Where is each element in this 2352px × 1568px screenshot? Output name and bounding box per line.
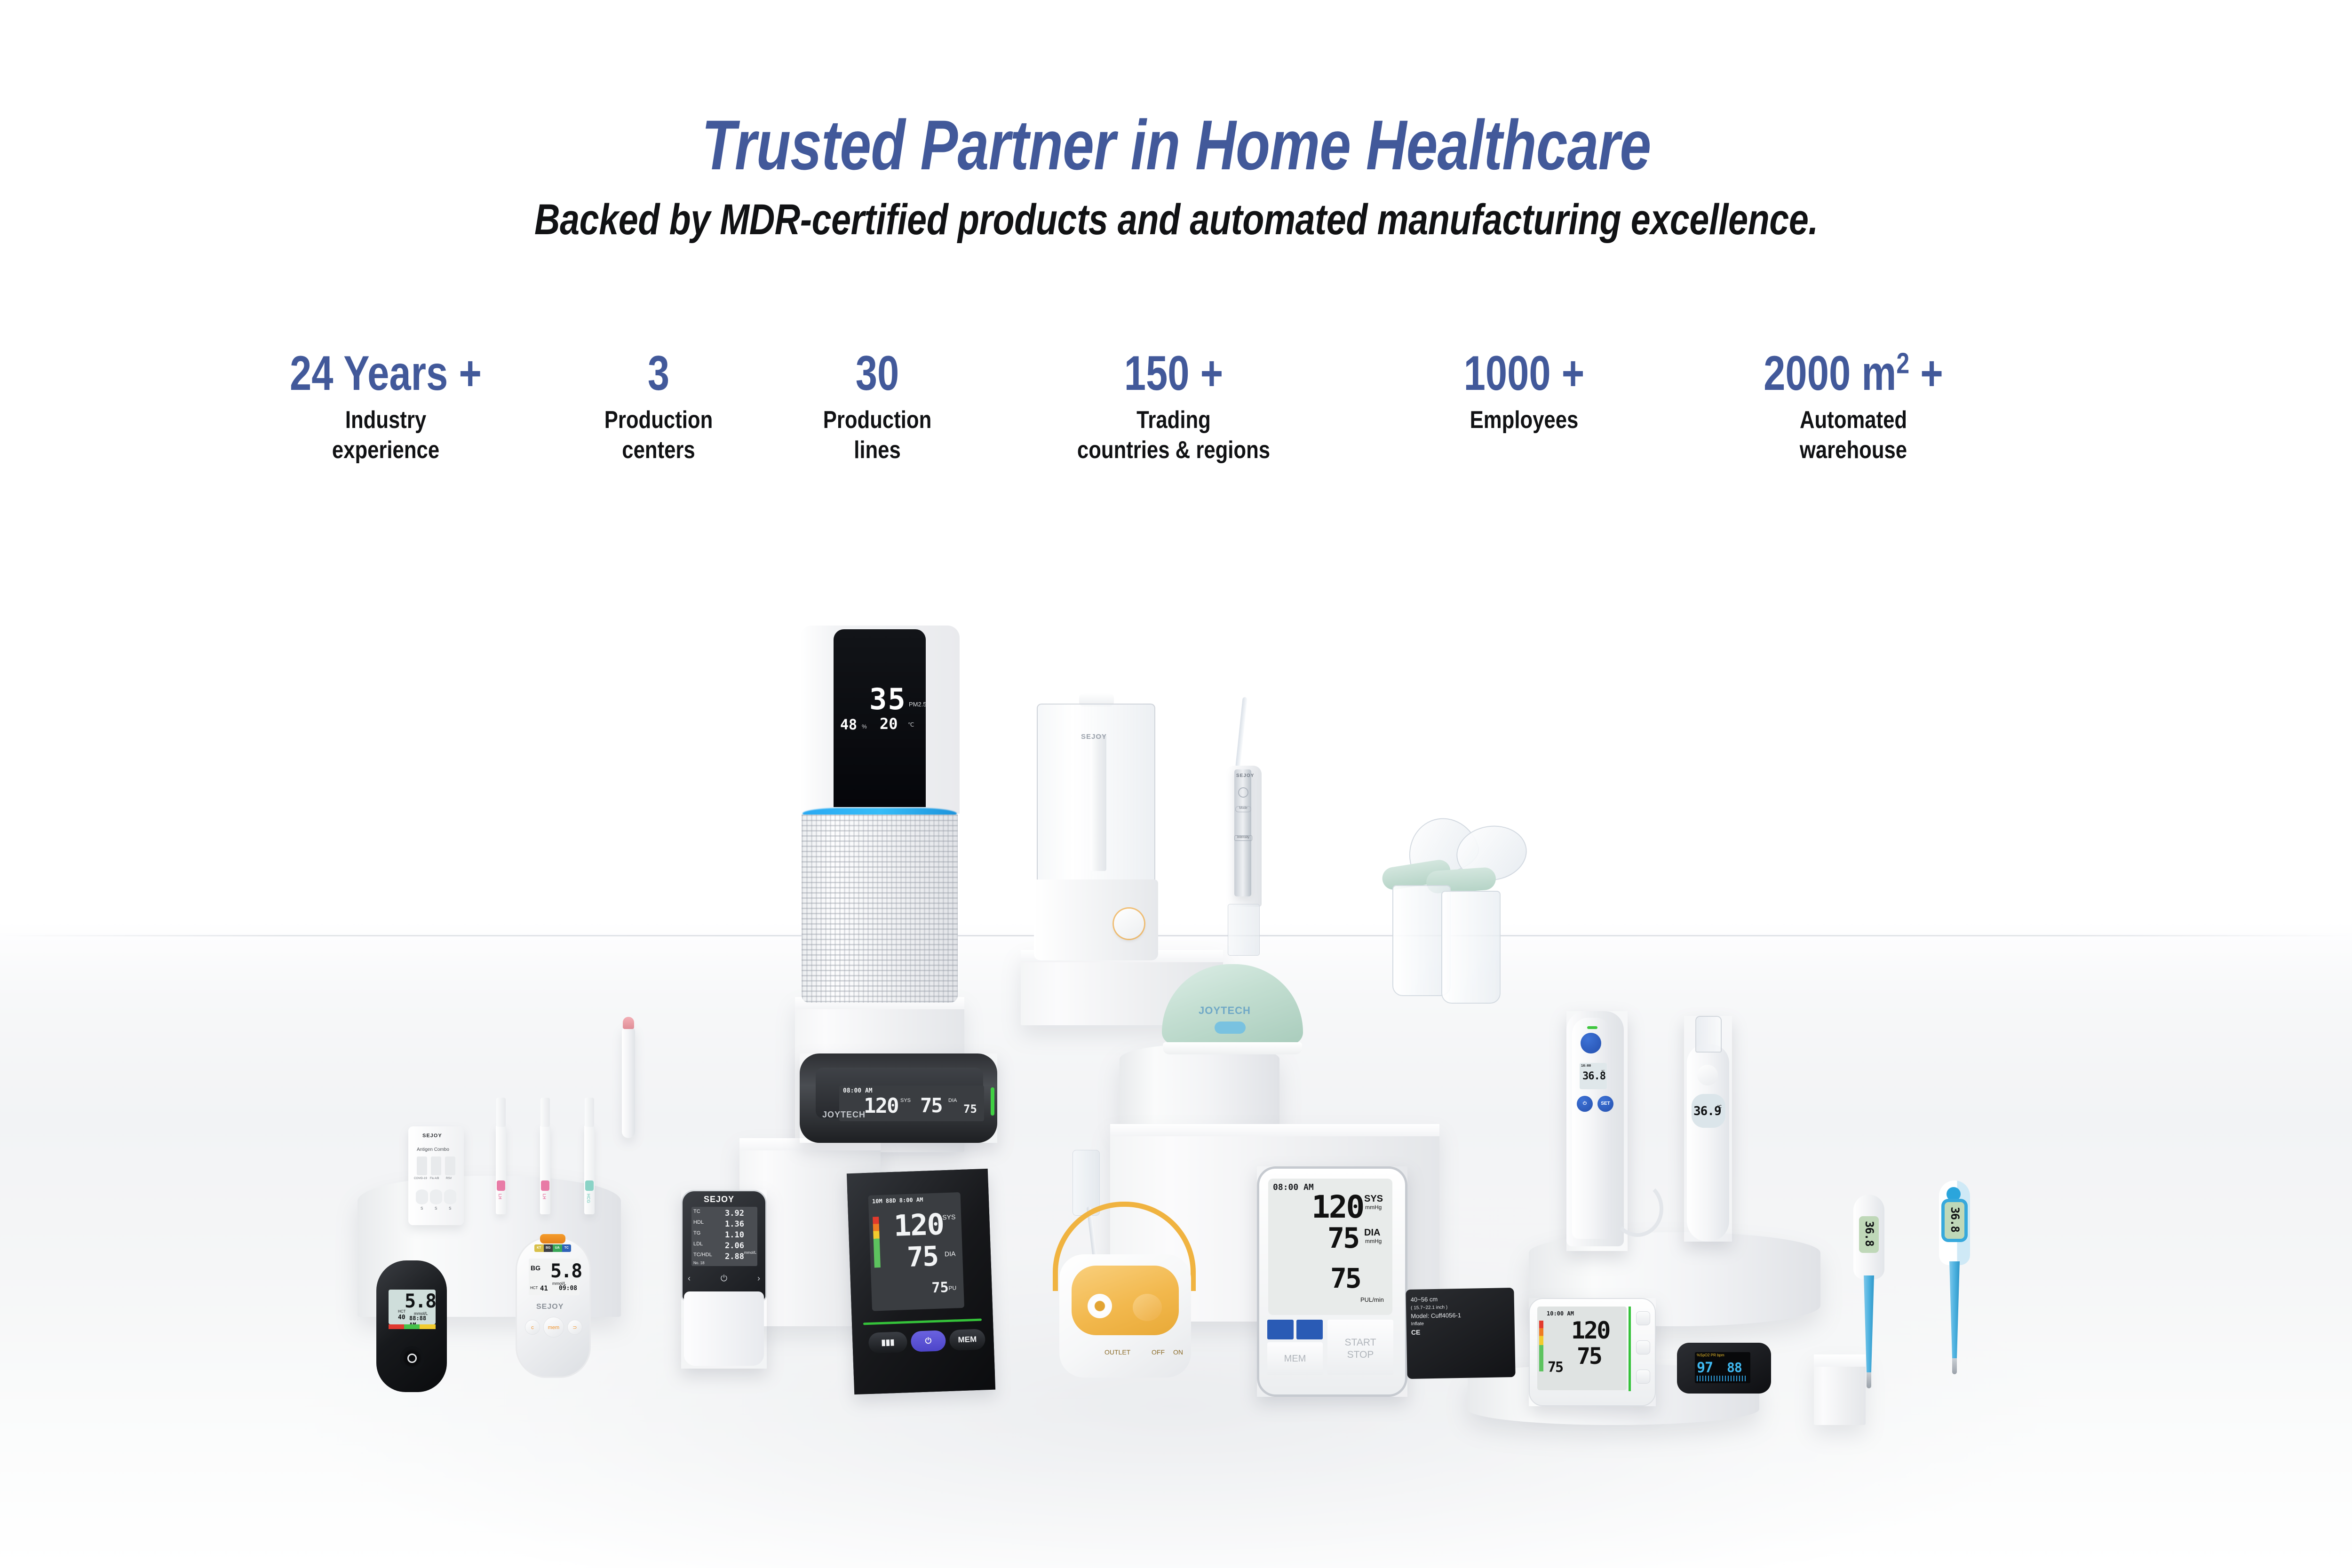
bp-sys-label: SYS (1364, 1194, 1383, 1204)
wrist2-risk-indicator (1539, 1321, 1543, 1371)
pm25-value: 35 (869, 682, 906, 716)
nebulizer-off-label: OFF (1152, 1348, 1165, 1356)
pump-brand: JOYTECH (1199, 1005, 1251, 1017)
bp-dia-value: 75 (1327, 1222, 1359, 1255)
oximeter-header: %SpO2 PR bpm (1697, 1353, 1724, 1357)
hct-label: HCT (398, 1309, 405, 1314)
wrist2-display: 10:00 AM 120 75 75 (1537, 1307, 1627, 1390)
bp-dia-value: 75 (906, 1240, 938, 1273)
antigen-test-name: COVID-19 (414, 1177, 427, 1180)
bp-datetime: 10M 88D 8:00 AM (872, 1196, 923, 1205)
lipid-row-value: 1.10 (725, 1230, 744, 1240)
antigen-title: Antigen Combo (417, 1147, 449, 1152)
wrist2-power-button[interactable] (1636, 1340, 1650, 1354)
bp-sys-value: 120 (1311, 1189, 1363, 1225)
product-wrist-bp-white: 10:00 AM 120 75 75 (1529, 1298, 1656, 1406)
wrist-bp-time: 08:00 AM (843, 1087, 873, 1094)
ear-time: 16:00 (1581, 1064, 1591, 1068)
oximeter-pr-value: 88 (1727, 1360, 1742, 1375)
product-ear-thermometer: 16:00 36.8 ℃ ⏻ SET (1566, 1011, 1628, 1251)
lipid-row-label: TC/HDL (693, 1252, 712, 1258)
pm25-label: PM2.5 (909, 701, 927, 708)
bp-pulse-value: 75 (931, 1279, 949, 1296)
purifier-grille (802, 815, 958, 1003)
bp-start-stop-button[interactable]: STARTSTOP (1327, 1320, 1393, 1375)
glucose-tab-kt: KT (534, 1244, 544, 1252)
wrist-bp-indicator-led (991, 1087, 994, 1116)
stick2-temp-value: 36.8 (1948, 1207, 1962, 1232)
ir-probe-cap (1695, 1016, 1722, 1053)
bp-time: 08:00 AM (1273, 1182, 1314, 1192)
wrist2-dia: 75 (1577, 1343, 1601, 1370)
irrigator-brand: SEJOY (1236, 773, 1254, 778)
product-bp-monitor-white: 08:00 AM 120 SYS mmHg 75 DIA mmHg 75 PUL… (1257, 1166, 1407, 1397)
nebulizer-outlet-label: OUTLET (1104, 1348, 1130, 1356)
irrigator-water-tank (1228, 904, 1260, 956)
nebulizer-medicine-cup (1073, 1150, 1100, 1216)
glucose-strip-slot (540, 1234, 565, 1243)
wrist-bp-sys-label: SYS (900, 1098, 911, 1103)
wrist2-accent-line (1629, 1307, 1631, 1391)
antigen-brand: SEJOY (422, 1133, 442, 1139)
oximeter-display: %SpO2 PR bpm 97 88 (1695, 1352, 1750, 1383)
lipid-row-label: LDL (693, 1241, 703, 1247)
glucose-mode-label: BG (531, 1264, 540, 1272)
bp-sys-label: SYS (942, 1213, 956, 1221)
lipid-prev-button[interactable]: ‹ (688, 1274, 691, 1283)
product-antigen-test: SEJOY Antigen Combo COVID-19 Flu A/B RSV… (408, 1126, 464, 1225)
lipid-brand: SEJOY (704, 1195, 734, 1204)
oximeter-plethysmograph (1697, 1376, 1748, 1381)
product-oral-irrigator: SEJOY Mode Intensity (1217, 697, 1269, 965)
air-purifier-display: 35 PM2.5 48 % 20 ℃ (834, 629, 926, 807)
humidifier-base (1034, 879, 1158, 960)
product-nebulizer: OUTLET OFF ON (1049, 1202, 1200, 1390)
product-lipid-analyzer: SEJOY TC3.92 HDL1.36 TG1.10 LDL2.06 TC/H… (681, 1190, 767, 1369)
humidifier-brand: SEJOY (1081, 733, 1107, 741)
product-test-strip-hcg: HCG (584, 1125, 595, 1214)
product-wrist-bp-joytech: 08:00 AM 120 SYS 75 DIA 75 JOYTECH (800, 1053, 997, 1143)
bp-pulse-label: PUL/min (1360, 1296, 1384, 1303)
humidifier-tank: SEJOY (1037, 704, 1155, 882)
stick1-display: 36.8 (1859, 1216, 1879, 1253)
glucose-time: 09:08 (559, 1285, 577, 1292)
bp-pulse-label: PU (948, 1284, 956, 1291)
bp-black-display: 10M 88D 8:00 AM 120 SYS 75 DIA 75 PU (868, 1192, 964, 1311)
product-lancing-pen (622, 1025, 635, 1138)
wrist2-set-button[interactable] (1636, 1311, 1650, 1325)
humidifier-dial[interactable] (1114, 909, 1144, 939)
ear-temp-unit: ℃ (1601, 1069, 1605, 1073)
bp-mem-button[interactable]: MEM (949, 1329, 985, 1351)
ir-temp-unit: ℃ (1717, 1104, 1722, 1109)
test-strip-label: LH (542, 1194, 547, 1199)
product-test-strip-lh: LH (496, 1125, 506, 1214)
bp-dia-label: DIA (1364, 1227, 1380, 1238)
product-breast-pump (1327, 818, 1534, 1138)
product-glucose-meter-white: KT BG UA TC BG 5.8 mmol/L HCT 41 09:08 S… (516, 1237, 591, 1378)
lipid-row-value: 2.88 (725, 1252, 744, 1261)
stick1-metal-tip (1867, 1372, 1871, 1388)
product-glucose-meter-black: 5.8 mmol/L HCT 40 88:88 AM (376, 1260, 447, 1392)
nebulizer-on-label: ON (1173, 1348, 1183, 1356)
nebulizer-power-knob[interactable] (1133, 1294, 1162, 1321)
product-bp-cuff: 40~56 cm ( 15.7~22.1 inch ) Model: Cuff4… (1406, 1288, 1515, 1379)
glucose-mem-button[interactable]: mem (543, 1317, 564, 1338)
wrist-bp-dia-label: DIA (948, 1098, 957, 1103)
pump-power-button[interactable] (1215, 1022, 1246, 1034)
lipid-record-number: No. 18 (693, 1261, 705, 1265)
stick2-probe (1949, 1261, 1960, 1360)
humidity-value: 48 (840, 717, 857, 733)
lipid-row-value: 2.06 (725, 1241, 744, 1251)
antigen-test-name: RSV (446, 1177, 452, 1180)
humidity-unit: % (862, 723, 867, 730)
irrigator-mode-button[interactable]: Mode (1235, 806, 1251, 812)
lipid-row-value: 3.92 (725, 1209, 744, 1218)
product-stick-thermometer-2: 36.8 (1939, 1180, 1970, 1378)
lipid-base (684, 1291, 764, 1366)
glucose-tab-ua: UA (553, 1244, 562, 1252)
product-lineup-photo: 35 PM2.5 48 % 20 ℃ SEJOY SEJOY Mode Inte… (0, 0, 2352, 1568)
product-air-purifier: 35 PM2.5 48 % 20 ℃ (800, 626, 960, 1002)
oximeter-spo2-value: 97 (1697, 1360, 1713, 1376)
irrigator-intensity-button[interactable]: Intensity (1234, 835, 1252, 841)
product-ir-thermometer: 36.9 ℃ (1684, 1016, 1732, 1242)
glucose-value: 5.8 (405, 1291, 436, 1312)
bp-sys-unit: mmHg (1365, 1204, 1382, 1211)
bp-user2-button[interactable] (1296, 1320, 1323, 1339)
coiled-cord (1612, 1180, 1663, 1237)
antigen-sample-label: S (449, 1206, 451, 1211)
ear-thermometer-display: 16:00 36.8 ℃ (1580, 1063, 1607, 1089)
lipid-row-label: TC (693, 1209, 700, 1214)
bp-pulse-value: 75 (1330, 1262, 1360, 1294)
bp-user-button[interactable]: ▮▮▮ (868, 1331, 907, 1354)
stick1-probe (1864, 1275, 1874, 1374)
lipid-display: TC3.92 HDL1.36 TG1.10 LDL2.06 TC/HDL2.88… (691, 1207, 757, 1266)
ear-measure-button[interactable] (1581, 1033, 1601, 1053)
hct-value: 41 (540, 1285, 548, 1292)
wrist2-mem-button[interactable] (1636, 1370, 1650, 1384)
product-bp-monitor-black: 10M 88D 8:00 AM 120 SYS 75 DIA 75 PU ▮▮▮… (847, 1169, 995, 1394)
stick2-power-button[interactable] (1947, 1187, 1961, 1201)
irrigator-nozzle (1235, 697, 1248, 768)
wrist2-sys: 120 (1571, 1317, 1609, 1344)
ear-power-button[interactable]: ⏻ (1577, 1096, 1593, 1112)
bp-power-button[interactable]: ⏻ (911, 1330, 946, 1352)
glucose-white-display: BG 5.8 mmol/L HCT 41 09:08 (529, 1259, 580, 1295)
lancing-pen-tip (623, 1017, 634, 1029)
product-pulse-oximeter: %SpO2 PR bpm 97 88 (1677, 1343, 1771, 1394)
glucose-left-button[interactable]: c (525, 1320, 540, 1335)
glucose-range-bar (389, 1324, 436, 1329)
antigen-test-name: Flu A/B (430, 1177, 439, 1180)
wrist-bp-sys: 120 (864, 1094, 898, 1118)
wrist2-time: 10:00 AM (1547, 1310, 1574, 1317)
hct-value: 40 (398, 1314, 405, 1321)
lipid-next-button[interactable]: › (757, 1274, 760, 1283)
test-strip-label: LH (498, 1194, 502, 1199)
test-strip-label: HCG (586, 1194, 591, 1203)
product-stick-thermometer-1: 36.8 (1853, 1195, 1884, 1392)
status-led (1587, 1026, 1597, 1029)
bp-white-display: 08:00 AM 120 SYS mmHg 75 DIA mmHg 75 PUL… (1268, 1179, 1392, 1315)
ce-mark-icon: CE (1411, 1326, 1510, 1338)
wrist-bp-dia: 75 (920, 1094, 942, 1117)
product-humidifier: SEJOY (1030, 691, 1162, 964)
bp-risk-indicator (873, 1217, 881, 1267)
pump-bottle (1441, 891, 1501, 1004)
temperature-unit: ℃ (908, 721, 914, 728)
ear-set-button[interactable]: SET (1597, 1096, 1613, 1112)
bp-dia-label: DIA (945, 1250, 956, 1258)
product-test-strip-lh: LH (540, 1125, 550, 1214)
stick2-display: 36.8 (1945, 1202, 1964, 1239)
glucose-black-display: 5.8 mmol/L HCT 40 88:88 AM (389, 1290, 436, 1324)
bp-mem-button[interactable]: MEM (1267, 1342, 1323, 1375)
wrist-bp-brand: JOYTECH (822, 1110, 866, 1120)
bp-user1-button[interactable] (1267, 1320, 1294, 1339)
antigen-sample-label: S (435, 1206, 437, 1211)
ir-measure-button[interactable] (1697, 1065, 1718, 1085)
lipid-row-label: HDL (693, 1220, 704, 1225)
glucose-tab-tc: TC (562, 1244, 572, 1252)
wrist2-pulse: 75 (1548, 1359, 1563, 1376)
stick1-temp-value: 36.8 (1863, 1221, 1876, 1246)
lipid-unit: mmol/L (744, 1251, 756, 1255)
ir-thermometer-display: 36.9 ℃ (1692, 1094, 1725, 1128)
lipid-power-button[interactable]: ⏻ (721, 1274, 727, 1283)
nebulizer-outlet-port (1088, 1294, 1112, 1318)
irrigator-power-button[interactable] (1238, 787, 1248, 798)
bp-dia-unit: mmHg (1365, 1238, 1382, 1244)
stick2-metal-tip (1952, 1358, 1957, 1374)
glucose-right-button[interactable]: ⊃ (567, 1320, 582, 1335)
product-breast-pump-motor: JOYTECH (1162, 964, 1303, 1058)
lipid-row-label: TG (693, 1230, 700, 1236)
antigen-sample-label: S (421, 1206, 423, 1211)
glucose-brand: SEJOY (536, 1303, 564, 1311)
glucose-tab-bg: BG (544, 1244, 553, 1252)
bp-sys-value: 120 (893, 1207, 944, 1243)
glucose-value: 5.8 (550, 1260, 581, 1282)
wrist-bp-pulse: 75 (963, 1102, 977, 1116)
hct-label: HCT (530, 1286, 538, 1290)
lipid-row-value: 1.36 (725, 1220, 744, 1229)
glucose-port-ring-icon (407, 1354, 417, 1363)
glucose-mode-tabs[interactable]: KT BG UA TC (534, 1244, 571, 1252)
temperature-value: 20 (880, 715, 898, 733)
